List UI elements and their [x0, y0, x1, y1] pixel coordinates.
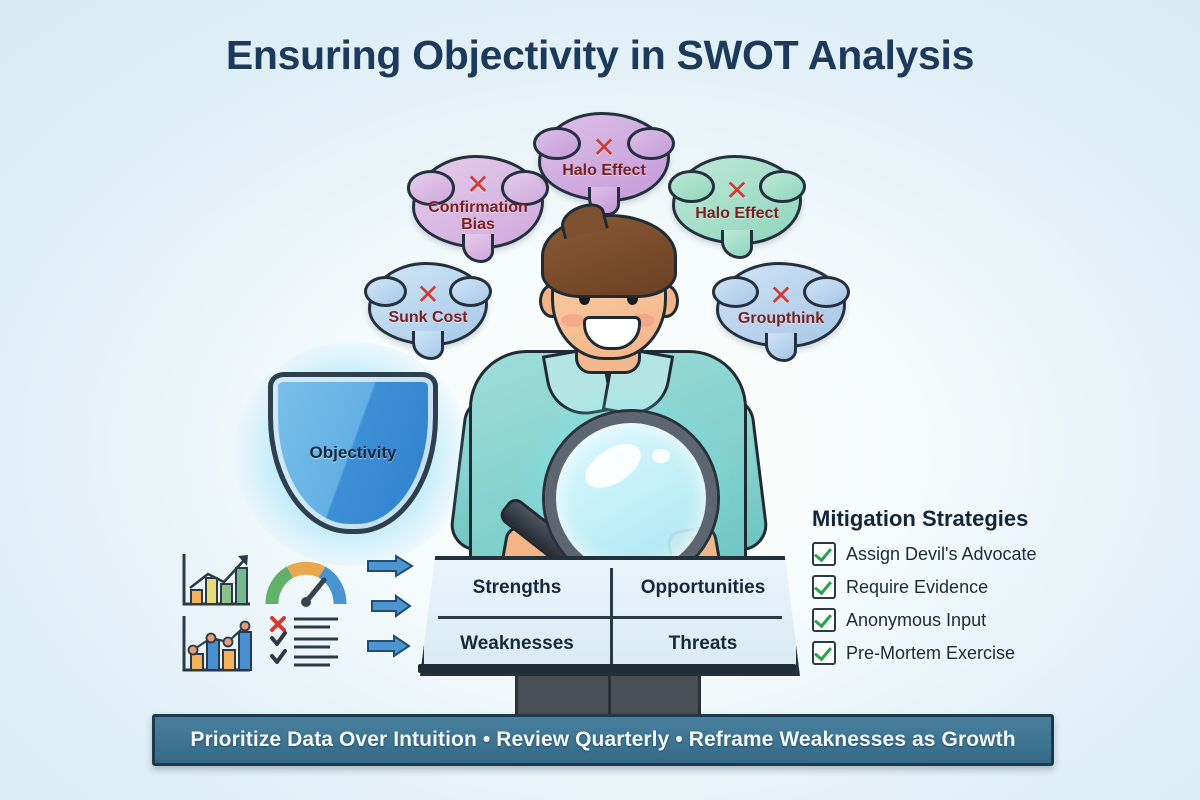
arrow-right-icon: [368, 636, 409, 656]
bias-label: Groupthink: [732, 311, 830, 327]
x-mark-icon: ✕: [769, 282, 792, 310]
mitigation-item-label: Pre-Mortem Exercise: [846, 643, 1015, 664]
bias-label: Halo Effect: [556, 163, 652, 179]
brain-stem-icon: [765, 333, 797, 362]
mitigation-item-label: Assign Devil's Advocate: [846, 544, 1037, 565]
person-cheek-left: [561, 314, 585, 327]
checkbox-checked-icon: [812, 641, 836, 665]
mitigation-item: Assign Devil's Advocate: [812, 542, 1152, 566]
mitigation-item: Anonymous Input: [812, 608, 1152, 632]
objectivity-shield: Objectivity: [268, 372, 438, 532]
page-title: Ensuring Objectivity in SWOT Analysis: [0, 32, 1200, 79]
swot-board-base: [418, 664, 796, 673]
checkbox-checked-icon: [812, 575, 836, 599]
bar-chart-growth-icon: [184, 554, 250, 604]
checklist-icon: [272, 618, 338, 665]
bottom-banner: Prioritize Data Over Intuition • Review …: [152, 714, 1054, 766]
mitigation-item-label: Require Evidence: [846, 577, 988, 598]
checkbox-checked-icon: [812, 542, 836, 566]
mitigation-strategies-panel: Mitigation Strategies Assign Devil's Adv…: [812, 506, 1152, 674]
bias-bubble-confirmation-bias: ✕ Confirmation Bias: [412, 155, 538, 243]
arrow-right-icon: [368, 556, 412, 576]
x-mark-icon: ✕: [466, 171, 489, 199]
x-mark-icon: ✕: [592, 134, 615, 162]
bias-bubble-halo-effect-purple: ✕ Halo Effect: [538, 112, 664, 196]
analysis-icon-cluster: [178, 548, 418, 678]
x-mark-icon: ✕: [725, 177, 748, 205]
mitigation-item: Pre-Mortem Exercise: [812, 641, 1152, 665]
swot-matrix-board: Strengths Opportunities Weaknesses Threa…: [420, 556, 800, 676]
checkbox-checked-icon: [812, 608, 836, 632]
swot-cell-opportunities: Opportunities: [610, 560, 796, 616]
shield-label: Objectivity: [310, 443, 397, 463]
mitigation-item-label: Anonymous Input: [846, 610, 986, 631]
banner-text: Prioritize Data Over Intuition • Review …: [190, 728, 1015, 752]
mitigation-heading: Mitigation Strategies: [812, 506, 1152, 532]
brain-stem-icon: [412, 331, 444, 360]
gauge-meter-icon: [272, 568, 340, 607]
bias-label: Confirmation Bias: [415, 200, 541, 233]
bias-label: Halo Effect: [689, 206, 785, 222]
person-hair: [541, 214, 677, 298]
magnifier-highlight: [578, 435, 649, 497]
brain-bubble-icon: ✕ Halo Effect: [538, 112, 670, 202]
x-mark-icon: ✕: [416, 281, 439, 309]
analysis-icons-svg: [178, 548, 418, 678]
infographic-canvas: Ensuring Objectivity in SWOT Analysis ✕ …: [0, 0, 1200, 800]
arrow-right-icon: [372, 596, 410, 616]
bias-label: Sunk Cost: [382, 310, 473, 326]
bar-chart-line-markers-icon: [184, 616, 251, 670]
magnifying-glass-icon: [545, 412, 705, 572]
swot-cell-strengths: Strengths: [424, 560, 610, 616]
mitigation-item: Require Evidence: [812, 575, 1152, 599]
magnifier-highlight-small: [652, 449, 670, 463]
